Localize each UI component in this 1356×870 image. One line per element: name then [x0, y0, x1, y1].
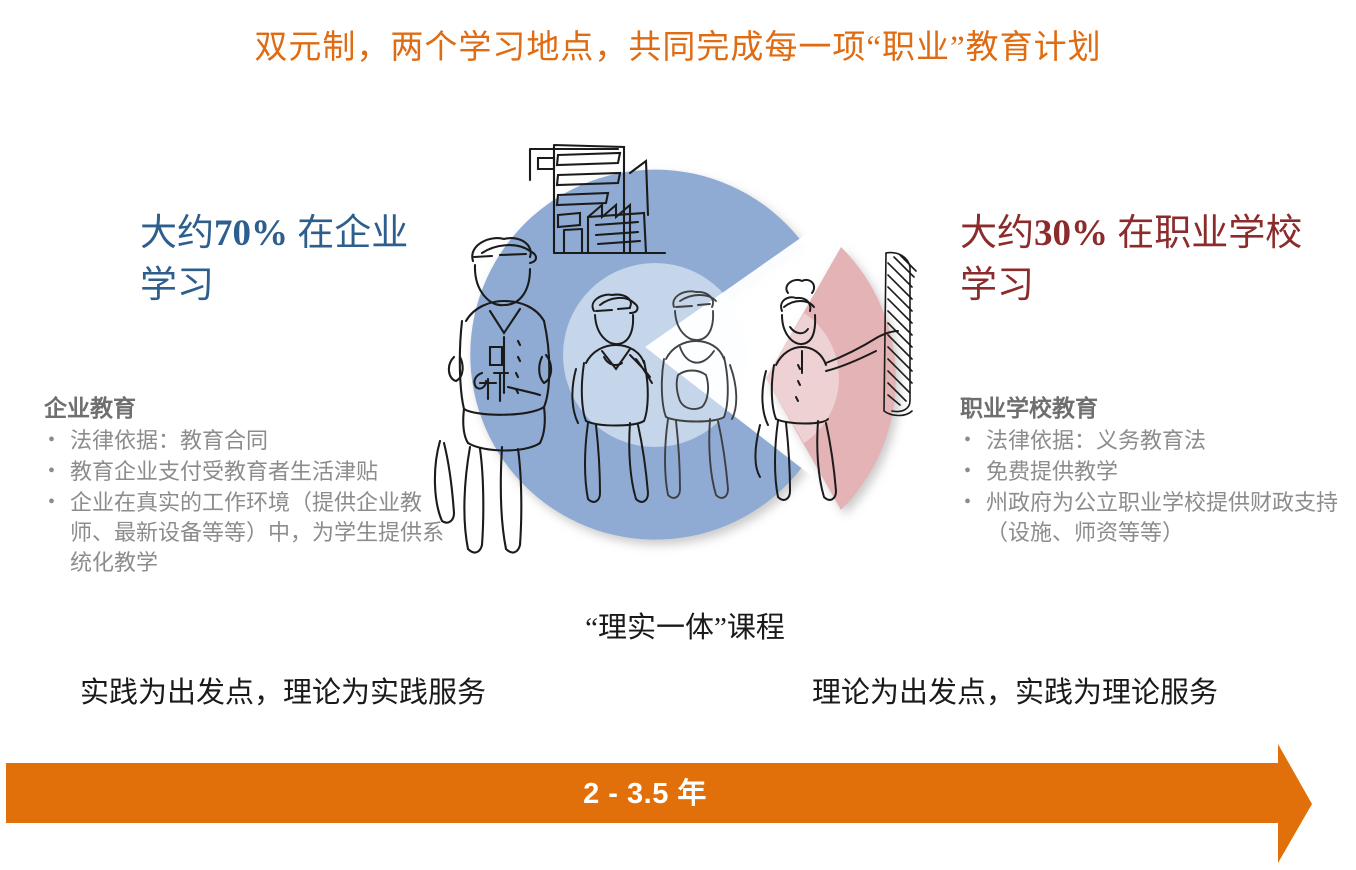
school-share-heading: 大约30% 在职业学校学习	[960, 208, 1330, 312]
school-statement: 理论为出发点，实践为理论服务	[812, 672, 1218, 714]
integrated-course-caption-text: “理实一体”课程	[585, 612, 785, 644]
school-education-bullet-list: • 法律依据：义务教育法 • 免费提供教学 • 州政府为公立职业学校提供财政支持…	[960, 426, 1340, 548]
company-statement: 实践为出发点，理论为实践服务	[80, 672, 486, 714]
bullet-icon: •	[964, 487, 971, 517]
list-item-label: 教育企业支付受教育者生活津贴	[70, 459, 378, 484]
school-education-subhead: 职业学校教育	[960, 392, 1340, 424]
list-item-label: 企业在真实的工作环境（提供企业教师、最新设备等等）中，为学生提供系统化教学	[70, 490, 444, 575]
bullet-icon: •	[48, 425, 55, 455]
list-item-label: 法律依据：义务教育法	[986, 428, 1206, 453]
company-statement-text: 实践为出发点，理论为实践服务	[80, 677, 486, 709]
school-share-prefix: 大约	[960, 213, 1034, 254]
dual-system-pie-graphic	[430, 125, 940, 615]
duration-label-text: 2 - 3.5 年	[583, 778, 707, 810]
bullet-icon: •	[48, 487, 55, 517]
bullet-icon: •	[964, 425, 971, 455]
list-item: • 法律依据：义务教育法	[960, 426, 1340, 456]
integrated-course-caption: “理实一体”课程	[430, 608, 940, 648]
company-education-bullet-list: • 法律依据：教育合同 • 教育企业支付受教育者生活津贴 • 企业在真实的工作环…	[44, 426, 444, 578]
list-item: • 教育企业支付受教育者生活津贴	[44, 457, 444, 487]
bullet-icon: •	[964, 456, 971, 486]
list-item: • 企业在真实的工作环境（提供企业教师、最新设备等等）中，为学生提供系统化教学	[44, 488, 444, 578]
company-share-prefix: 大约	[140, 213, 214, 254]
company-education-block: 企业教育 • 法律依据：教育合同 • 教育企业支付受教育者生活津贴 • 企业在真…	[44, 392, 444, 579]
page-title: 双元制，两个学习地点，共同完成每一项“职业”教育计划	[0, 26, 1356, 70]
list-item-label: 法律依据：教育合同	[70, 428, 268, 453]
company-education-subhead: 企业教育	[44, 392, 444, 424]
duration-label: 2 - 3.5 年	[0, 776, 1290, 812]
school-share-number: 30%	[1034, 213, 1108, 254]
company-share-number: 70%	[214, 213, 288, 254]
list-item: • 免费提供教学	[960, 457, 1340, 487]
bullet-icon: •	[48, 456, 55, 486]
company-share-heading: 大约70% 在企业学习	[140, 208, 440, 312]
list-item: • 法律依据：教育合同	[44, 426, 444, 456]
list-item-label: 免费提供教学	[986, 459, 1118, 484]
page-title-text: 双元制，两个学习地点，共同完成每一项“职业”教育计划	[254, 30, 1101, 66]
school-education-block: 职业学校教育 • 法律依据：义务教育法 • 免费提供教学 • 州政府为公立职业学…	[960, 392, 1340, 549]
list-item-label: 州政府为公立职业学校提供财政支持（设施、师资等等）	[986, 490, 1338, 545]
list-item: • 州政府为公立职业学校提供财政支持（设施、师资等等）	[960, 488, 1340, 548]
school-statement-text: 理论为出发点，实践为理论服务	[812, 677, 1218, 709]
